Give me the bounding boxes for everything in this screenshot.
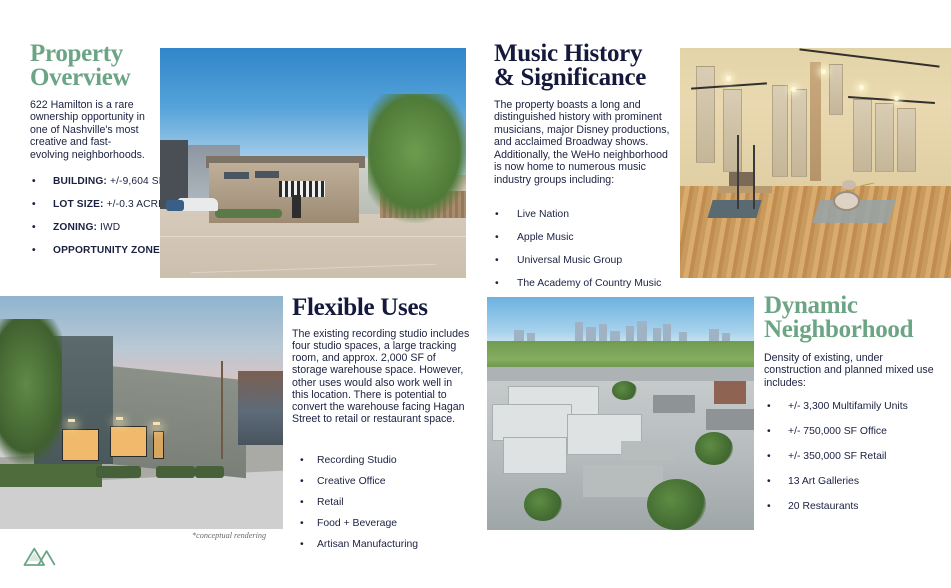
list-item: Apple Music	[495, 232, 695, 244]
list-item: Food + Beverage	[300, 518, 480, 530]
list-item: Creative Office	[300, 476, 480, 488]
conceptual-rendering-caption: *conceptual rendering	[192, 531, 266, 540]
dynamic-neighborhood-section: Dynamic Neighborhood Density of existing…	[764, 294, 939, 389]
list-item: +/- 750,000 SF Office	[767, 426, 947, 438]
music-history-heading: Music History & Significance	[494, 42, 672, 90]
flexible-uses-photo	[0, 296, 283, 529]
property-overview-heading: Property Overview	[30, 42, 155, 90]
list-item: 13 Art Galleries	[767, 476, 947, 488]
property-overview-photo	[160, 48, 466, 278]
music-history-section: Music History & Significance The propert…	[494, 42, 672, 187]
flexible-uses-heading: Flexible Uses	[292, 296, 472, 320]
flexible-uses-bullets: Recording Studio Creative Office Retail …	[300, 455, 480, 551]
dynamic-neighborhood-photo	[487, 297, 754, 530]
property-overview-paragraph: 622 Hamilton is a rare ownership opportu…	[30, 99, 150, 162]
flexible-uses-paragraph: The existing recording studio includes f…	[292, 328, 470, 426]
dynamic-neighborhood-paragraph: Density of existing, under construction …	[764, 352, 934, 390]
list-item: +/- 3,300 Multifamily Units	[767, 401, 947, 413]
music-history-bullets: Live Nation Apple Music Universal Music …	[495, 209, 695, 290]
music-history-photo	[680, 48, 951, 278]
list-item: Artisan Manufacturing	[300, 539, 480, 551]
property-overview-section: Property Overview 622 Hamilton is a rare…	[30, 42, 155, 161]
list-item: Live Nation	[495, 209, 695, 221]
list-item: +/- 350,000 SF Retail	[767, 451, 947, 463]
music-history-paragraph: The property boasts a long and distingui…	[494, 99, 670, 187]
brochure-page: Property Overview 622 Hamilton is a rare…	[0, 0, 951, 588]
list-item: The Academy of Country Music	[495, 278, 695, 290]
list-item: Universal Music Group	[495, 255, 695, 267]
dynamic-neighborhood-heading: Dynamic Neighborhood	[764, 294, 939, 342]
list-item: Retail	[300, 497, 480, 509]
flexible-uses-section: Flexible Uses The existing recording stu…	[292, 296, 472, 425]
list-item: Recording Studio	[300, 455, 480, 467]
dynamic-neighborhood-bullets: +/- 3,300 Multifamily Units +/- 750,000 …	[767, 401, 947, 513]
mountain-logo	[22, 543, 58, 569]
list-item: 20 Restaurants	[767, 501, 947, 513]
